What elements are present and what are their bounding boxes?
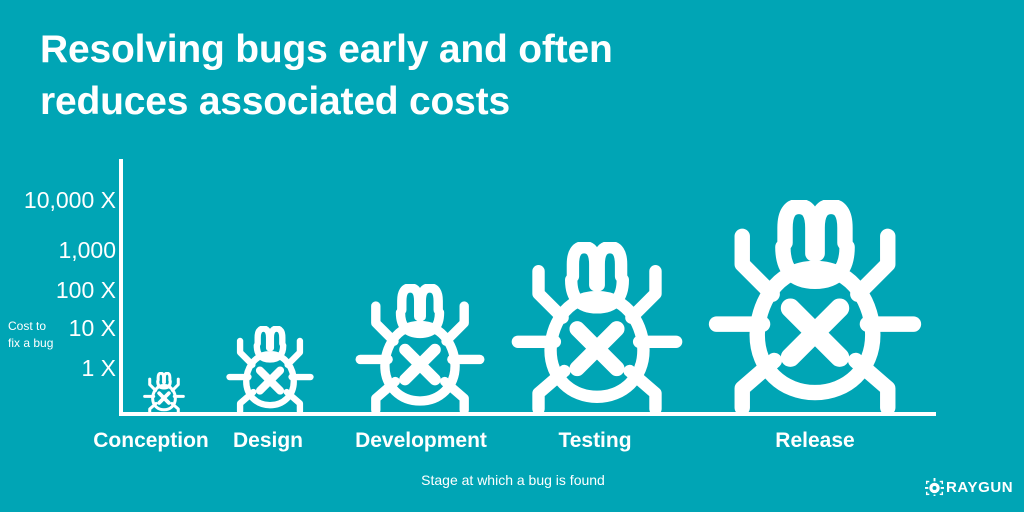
page-title: Resolving bugs early and often reduces a… (40, 24, 820, 128)
infographic-canvas: Resolving bugs early and often reduces a… (0, 0, 1024, 512)
bug-icon-art (708, 200, 922, 414)
x-axis-tick-label-design: Design (233, 429, 303, 453)
raygun-mark-icon (925, 478, 944, 496)
y-axis-title-line-1: Cost to (8, 319, 46, 333)
y-axis-tick-label: 1 X (81, 357, 116, 380)
page-title-line-2: reduces associated costs (40, 76, 820, 128)
bug-icon-design (226, 326, 314, 414)
bug-icon-conception (143, 372, 185, 414)
bug-icon-testing (511, 242, 683, 414)
raygun-logo: RAYGUN (925, 478, 1013, 496)
bug-icon-development (355, 284, 485, 414)
y-axis-title: Cost to fix a bug (8, 318, 80, 352)
y-axis-tick-label: 1,000 (58, 239, 116, 262)
x-axis-tick-label-conception: Conception (93, 429, 209, 453)
x-axis-tick-label-testing: Testing (558, 429, 631, 453)
bug-icon-art (355, 284, 485, 414)
bug-icon-art (143, 372, 185, 414)
bug-icon-art (511, 242, 683, 414)
x-axis-tick-label-release: Release (775, 429, 854, 453)
y-axis-tick-label: 10,000 X (24, 189, 116, 212)
y-axis-line (119, 159, 123, 416)
y-axis-tick-label: 100 X (56, 279, 116, 302)
y-axis-title-line-2: fix a bug (8, 336, 53, 350)
bug-icon-release (708, 200, 922, 414)
bug-icon-art (226, 326, 314, 414)
raygun-wordmark: RAYGUN (946, 480, 1013, 495)
x-axis-title: Stage at which a bug is found (421, 472, 605, 488)
page-title-line-1: Resolving bugs early and often (40, 24, 820, 76)
x-axis-tick-label-development: Development (355, 429, 487, 453)
